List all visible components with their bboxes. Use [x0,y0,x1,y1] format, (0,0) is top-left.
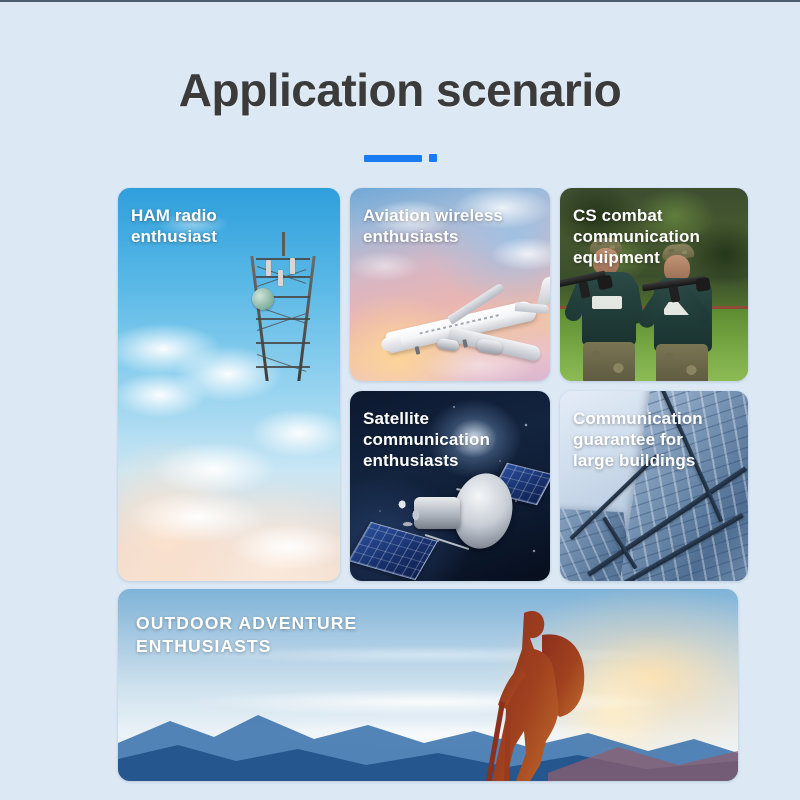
scenario-card-label: HAM radio enthusiast [131,205,340,247]
scenario-card-large-buildings[interactable]: Communication guarantee for large buildi… [560,391,748,581]
page-title: Application scenario [0,62,800,118]
accent-square [429,154,437,162]
radio-tower-graphic [250,248,316,381]
scenario-card-label: Aviation wireless enthusiasts [363,205,550,247]
scenario-card-label: Satellite communication enthusiasts [363,408,550,471]
scenario-banner-outdoor-adventure[interactable]: OUTDOOR ADVENTURE ENTHUSIASTS [118,589,738,781]
page-header: Application scenario [0,62,800,162]
banner-label: OUTDOOR ADVENTURE ENTHUSIASTS [136,612,357,658]
satellite-graphic [358,463,544,579]
scenario-card-ham-radio[interactable]: HAM radio enthusiast [118,188,340,581]
scenario-card-label: CS combat communication equipment [573,205,748,268]
scenario-card-satellite[interactable]: Satellite communication enthusiasts [350,391,550,581]
scenario-card-label: Communication guarantee for large buildi… [573,408,748,471]
scenario-card-aviation-wireless[interactable]: Aviation wireless enthusiasts [350,188,550,381]
top-edge-rule [0,0,800,2]
accent-bar [364,155,422,162]
scenario-card-grid: HAM radio enthusiast Aviati [118,188,738,581]
title-accent [0,154,800,162]
hiker-silhouette-graphic [480,605,606,781]
mountain-ridge-graphic [118,681,738,781]
scenario-card-cs-combat[interactable]: CS combat communication equipment [560,188,748,381]
